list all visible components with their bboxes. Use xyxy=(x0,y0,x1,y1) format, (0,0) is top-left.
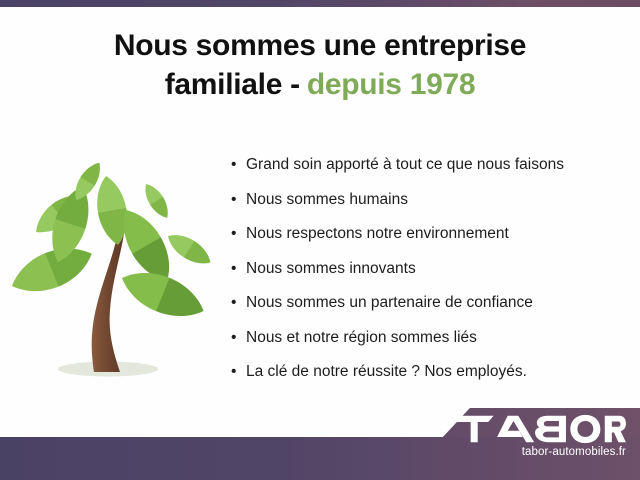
headline-line-2-black: familiale - xyxy=(165,68,300,101)
benefits-list: •Grand soin apporté à tout ce que nous f… xyxy=(228,148,632,390)
leaf-top-right-small xyxy=(140,180,174,222)
bullet-marker: • xyxy=(231,286,236,321)
headline-line-1: Nous sommes une entreprise xyxy=(114,29,526,62)
tree-illustration xyxy=(8,150,220,390)
list-item: •Nous sommes un partenaire de confiance xyxy=(228,286,632,321)
list-item-label: Nous sommes humains xyxy=(246,191,408,208)
list-item: •Nous sommes innovants xyxy=(228,252,632,287)
list-item-label: Grand soin apporté à tout ce que nous fa… xyxy=(246,156,564,173)
headline-line-2-accent: depuis 1978 xyxy=(307,68,475,101)
list-item-label: Nous et notre région sommes liés xyxy=(246,329,477,346)
bullet-marker: • xyxy=(231,217,236,252)
list-item-label: Nous sommes innovants xyxy=(246,260,416,277)
footer-notch xyxy=(443,408,640,437)
slide-canvas: Nous sommes une entreprise familiale -de… xyxy=(0,0,640,480)
list-item: •La clé de notre réussite ? Nos employés… xyxy=(228,355,632,390)
top-accent-strip xyxy=(0,0,640,7)
list-item: •Nous et notre région sommes liés xyxy=(228,321,632,356)
footer-bar xyxy=(0,400,640,480)
bullet-marker: • xyxy=(231,148,236,183)
bullet-marker: • xyxy=(231,183,236,218)
list-item: •Nous respectons notre environnement xyxy=(228,217,632,252)
list-item: •Nous sommes humains xyxy=(228,183,632,218)
page-title: Nous sommes une entreprise familiale -de… xyxy=(0,26,640,104)
list-item-label: Nous respectons notre environnement xyxy=(246,225,509,242)
bullet-marker: • xyxy=(231,355,236,390)
list-item: •Grand soin apporté à tout ce que nous f… xyxy=(228,148,632,183)
list-item-label: Nous sommes un partenaire de confiance xyxy=(246,294,533,311)
leaf-right-small xyxy=(163,228,216,271)
list-item-label: La clé de notre réussite ? Nos employés. xyxy=(246,363,527,380)
bullet-marker: • xyxy=(231,321,236,356)
tree-trunk xyxy=(92,232,124,372)
bullet-marker: • xyxy=(231,252,236,287)
